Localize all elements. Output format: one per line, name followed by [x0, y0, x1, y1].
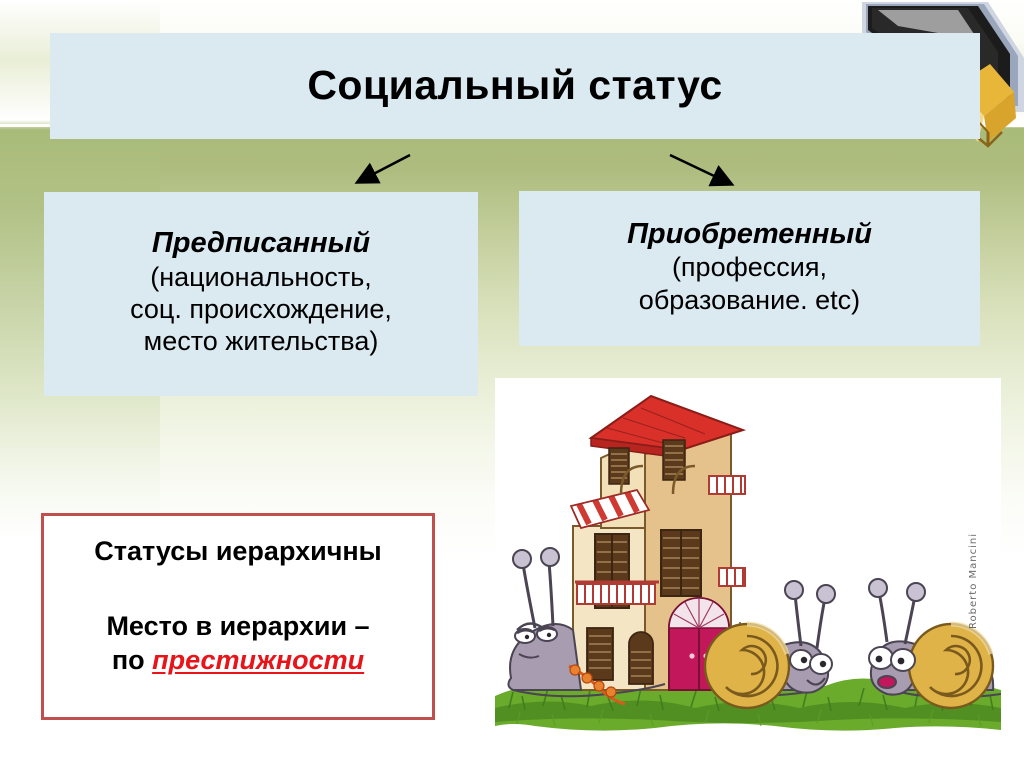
slide-canvas: Социальный статус Предписанный (национал…	[0, 0, 1024, 767]
arrow-to-achieved	[670, 155, 731, 184]
ascribed-status-box: Предписанный (национальность, соц. проис…	[44, 192, 478, 396]
achieved-body: (профессия, образование. etc)	[639, 251, 860, 316]
ascribed-body: (национальность, соц. происхождение, мес…	[130, 261, 392, 358]
snail-shell-right	[909, 624, 993, 708]
achieved-heading: Приобретенный	[627, 217, 872, 251]
prestige-emphasis: престижности	[152, 645, 364, 675]
ascribed-line-2: соц. происхождение,	[130, 293, 392, 325]
ascribed-heading: Предписанный	[152, 226, 370, 260]
slide-title-box: Социальный статус	[50, 33, 980, 139]
ascribed-line-3: место жительства)	[130, 325, 392, 357]
snail-shell-middle	[705, 624, 789, 708]
page-title: Социальный статус	[307, 63, 722, 108]
achieved-line-2: образование. etc)	[639, 284, 860, 316]
hierarchy-line-3-prefix: по	[112, 645, 152, 675]
snail-house-illustration: Roberto Mancini	[495, 378, 1001, 760]
hierarchy-line-1: Статусы иерархичны	[94, 534, 381, 569]
artist-signature: Roberto Mancini	[968, 533, 979, 629]
hierarchy-note-box: Статусы иерархичны Место в иерархии – по…	[41, 513, 435, 720]
snail-house-artwork	[495, 378, 1001, 760]
hierarchy-line-2: Место в иерархии –	[106, 609, 369, 644]
ascribed-line-1: (национальность,	[130, 261, 392, 293]
arrow-to-ascribed	[358, 155, 410, 182]
achieved-line-1: (профессия,	[639, 251, 860, 283]
hierarchy-line-3: по престижности	[112, 643, 364, 678]
achieved-status-box: Приобретенный (профессия, образование. e…	[519, 191, 980, 346]
